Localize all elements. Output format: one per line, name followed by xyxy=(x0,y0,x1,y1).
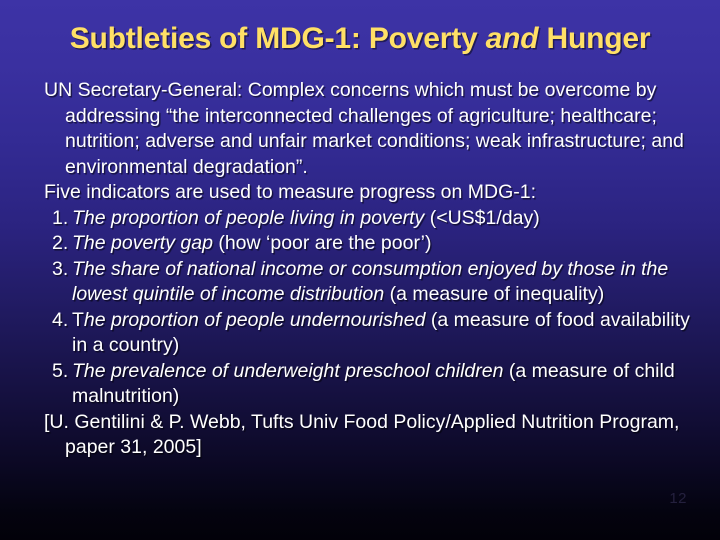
list-item: 4.The proportion of people undernourishe… xyxy=(44,308,692,359)
list-item-tail: (a measure of inequality) xyxy=(384,283,604,305)
slide-number: 12 xyxy=(669,490,687,507)
list-item-emphasis: The proportion of people undernourished xyxy=(72,309,425,331)
slide-canvas: Subtleties of MDG-1: Poverty and Hunger … xyxy=(0,0,720,540)
indicator-list: 1.The proportion of people living in pov… xyxy=(44,206,692,410)
list-item: 3.The share of national income or consum… xyxy=(44,257,692,308)
slide-title-emphasis: and xyxy=(486,22,539,55)
list-item-emphasis-body: The prevalence of underweight preschool … xyxy=(72,360,503,382)
list-item-tail: (how ‘poor are the poor’) xyxy=(213,232,432,254)
list-item-emphasis: The prevalence of underweight preschool … xyxy=(72,360,503,382)
list-item: 2.The poverty gap (how ‘poor are the poo… xyxy=(44,231,692,257)
slide-title: Subtleties of MDG-1: Poverty and Hunger xyxy=(0,21,720,57)
list-item-emphasis: The poverty gap xyxy=(72,232,213,254)
list-item-number: 5. xyxy=(52,359,68,385)
list-item-emphasis-body: The poverty gap xyxy=(72,232,213,254)
list-item-emphasis-body: The proportion of people living in pover… xyxy=(72,207,424,229)
list-item: 1.The proportion of people living in pov… xyxy=(44,206,692,232)
list-item-tail: (<US$1/day) xyxy=(424,207,539,229)
lead-in-text: Five indicators are used to measure prog… xyxy=(44,180,692,206)
list-item-emphasis: The proportion of people living in pover… xyxy=(72,207,424,229)
list-item-number: 4. xyxy=(52,308,68,334)
citation: [U. Gentilini & P. Webb, Tufts Univ Food… xyxy=(44,410,692,461)
list-item-number: 3. xyxy=(52,257,68,283)
list-item-emphasis-body: he proportion of people undernourished xyxy=(84,309,426,331)
intro-paragraph: UN Secretary-General: Complex concerns w… xyxy=(44,78,692,180)
list-item: 5.The prevalence of underweight preschoo… xyxy=(44,359,692,410)
slide-body: UN Secretary-General: Complex concerns w… xyxy=(44,78,692,461)
list-item-emphasis-lead: T xyxy=(72,309,84,331)
list-item-number: 1. xyxy=(52,206,68,232)
list-item-number: 2. xyxy=(52,231,68,257)
slide-title-part-1: Subtleties of MDG-1: Poverty xyxy=(70,22,486,55)
slide-title-part-2: Hunger xyxy=(538,22,650,55)
